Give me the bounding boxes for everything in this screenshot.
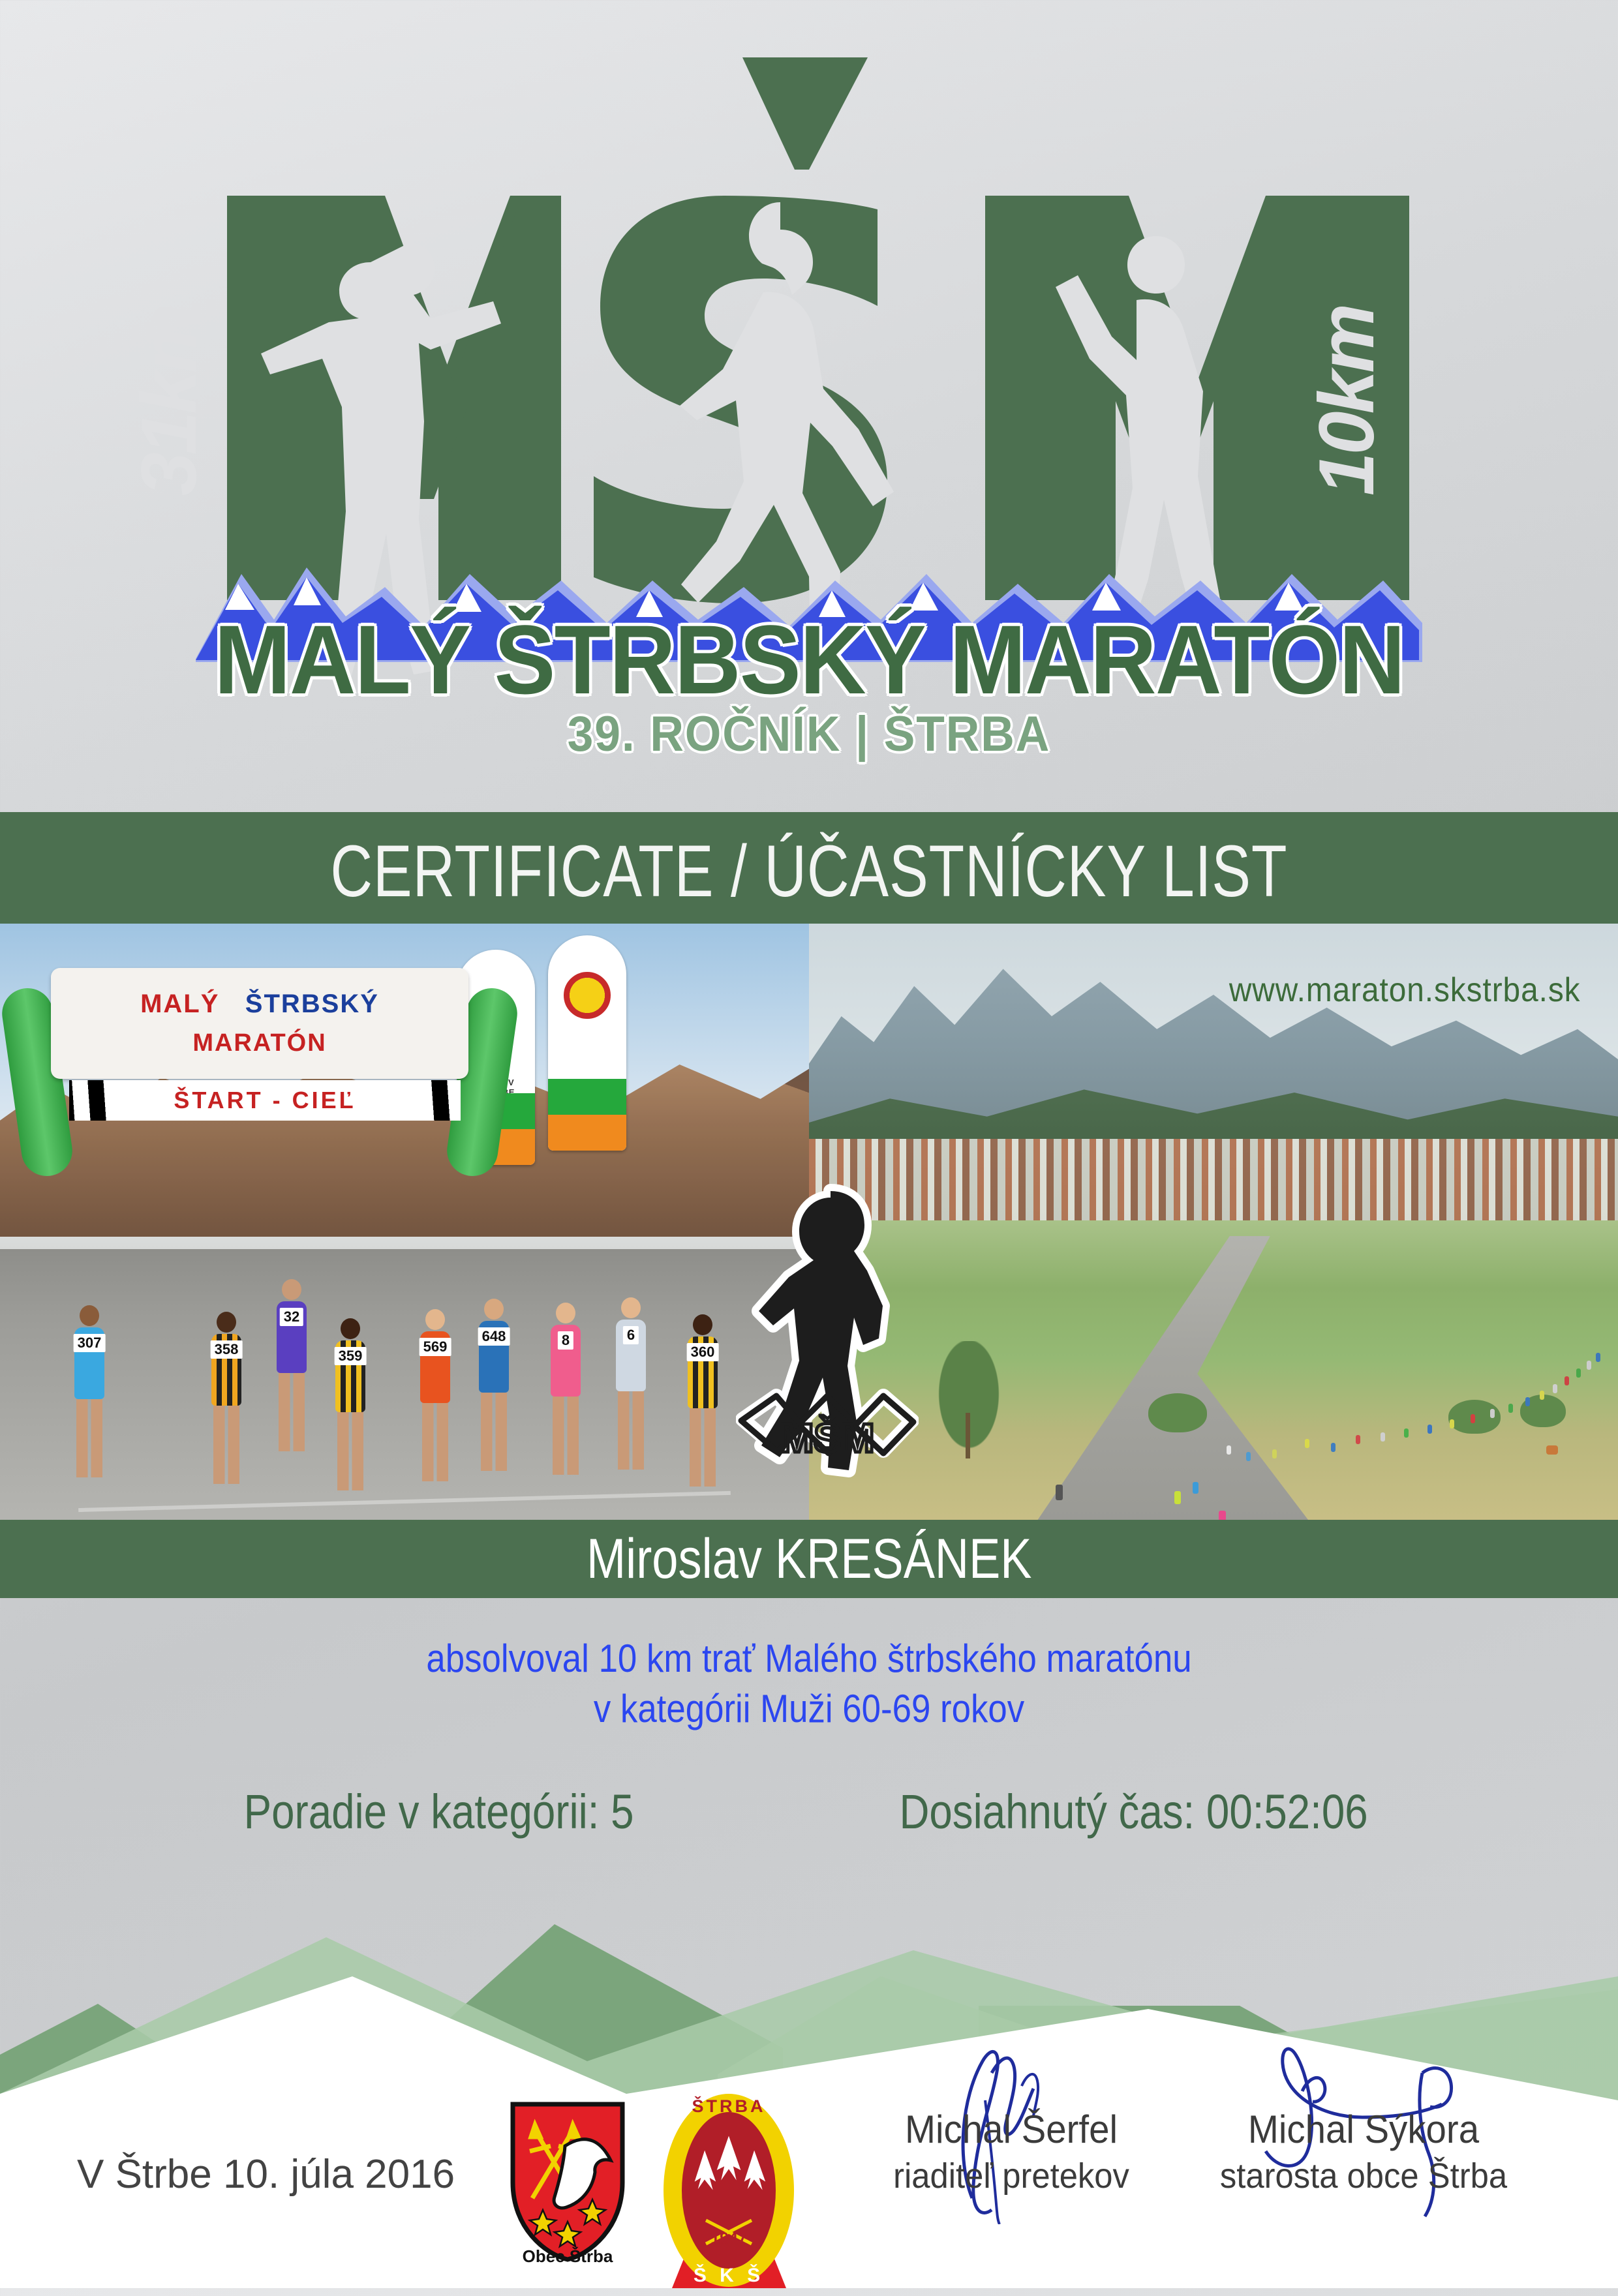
achievement-line-2: v kategórii Muži 60-69 rokov [97,1684,1521,1734]
achievement-text: absolvoval 10 km trať Malého štrbského m… [0,1634,1618,1734]
bib-number: 32 [280,1308,303,1326]
certificate-banner: CERTIFICATE / ÚČASTNÍCKY LIST [0,812,1618,929]
sks-strba-crest: ŠTRBA 1947 Š K Š ŠPORTOVÝ KLUB [659,2092,799,2291]
bib-number: 6 [623,1326,639,1344]
crest-label: Obec Štrba [523,2246,613,2263]
msm-runner-badge: MŠM [736,1171,919,1478]
runner: 8 [548,1303,583,1475]
arch-word-strbsky: ŠTRBSKÝ [245,989,379,1018]
results-row: Poradie v kategórii: 5 Dosiahnutý čas: 0… [0,1784,1618,1839]
bib-number: 307 [74,1334,106,1352]
obec-strba-crest: Obec Štrba [502,2100,633,2296]
logo-right-distance: 10km [1303,306,1390,496]
signatory-name: Michal Sýkora [1204,2107,1523,2152]
sks-year: 1947 [710,2229,747,2248]
event-title: MALÝ ŠTRBSKÝ MARATÓN [214,603,1404,716]
sponsor-flag-sks [548,935,626,1151]
signatory-role: starosta obce Štrba [1204,2156,1523,2196]
signatory-role: riaditeľ pretekov [852,2156,1171,2196]
start-finish-arch: MALÝ ŠTRBSKÝ MARATÓN ŠTART - CIEĽ [12,961,508,1157]
bib-number: 648 [478,1327,510,1346]
finish-time: Dosiahnutý čas: 00:52:06 [899,1784,1367,1839]
bib-number: 360 [687,1343,719,1361]
runner: 360 [685,1314,720,1487]
signature-block-mayor: Michal Sýkora starosta obce Štrba [1194,2107,1533,2196]
certificate-title: CERTIFICATE / ÚČASTNÍCKY LIST [331,829,1288,913]
runner: 359 [333,1318,368,1490]
runner: 307 [72,1305,107,1477]
signatory-name: Michal Šerfel [852,2107,1171,2152]
signature-block-director: Michal Šerfel riaditeľ pretekov [842,2107,1181,2196]
logo-block: 31km 10km MALÝ ŠTRBSKÝ MARATÓN 39. ROČNÍ… [0,0,1618,793]
website-url[interactable]: www.maraton.skstrba.sk [1229,971,1580,1010]
bib-number: 358 [211,1340,243,1359]
participant-name-banner: Miroslav KRESÁNEK [0,1520,1618,1598]
runner: 569 [418,1309,453,1481]
badge-text: MŠM [780,1416,875,1461]
start-finish-tape: ŠTART - CIEĽ [69,1080,461,1121]
runner: 32 [274,1279,309,1451]
bib-number: 359 [335,1347,367,1365]
logo-left-distance: 31km [125,306,213,496]
footer: V Štrbe 10. júla 2016 Obec Štrba [0,2009,1618,2288]
sks-bottom-text: Š K Š [694,2264,764,2286]
arch-word-maraton: MARATÓN [192,1029,326,1057]
achievement-line-1: absolvoval 10 km trať Malého štrbského m… [97,1634,1521,1684]
bib-number: 569 [420,1338,451,1356]
runner: 6 [613,1297,649,1470]
runner: 358 [209,1312,244,1484]
caron-accent [742,57,868,170]
bib-number: 8 [558,1331,573,1350]
sks-top-text: ŠTRBA [692,2096,766,2116]
participant-name: Miroslav KRESÁNEK [587,1527,1031,1592]
start-line-crowd-photo: TATRY V POHYBE MALÝ ŠTRBSKÝ MARATÓN ŠTAR… [0,924,809,1523]
runner: 648 [476,1299,511,1471]
tatra-mountain-road-photo: www.maraton.skstrba.sk [809,924,1618,1523]
runner-crowd: 307 358 32 359 648 [0,1171,809,1477]
event-subtitle: 39. ROČNÍK | ŠTRBA [568,706,1051,763]
arch-word-maly: MALÝ [140,989,219,1018]
category-rank: Poradie v kategórii: 5 [244,1784,634,1839]
distant-runner-line [809,924,1618,1523]
issue-date: V Štrbe 10. júla 2016 [77,2151,455,2198]
tape-text: ŠTART - CIEĽ [174,1087,356,1114]
